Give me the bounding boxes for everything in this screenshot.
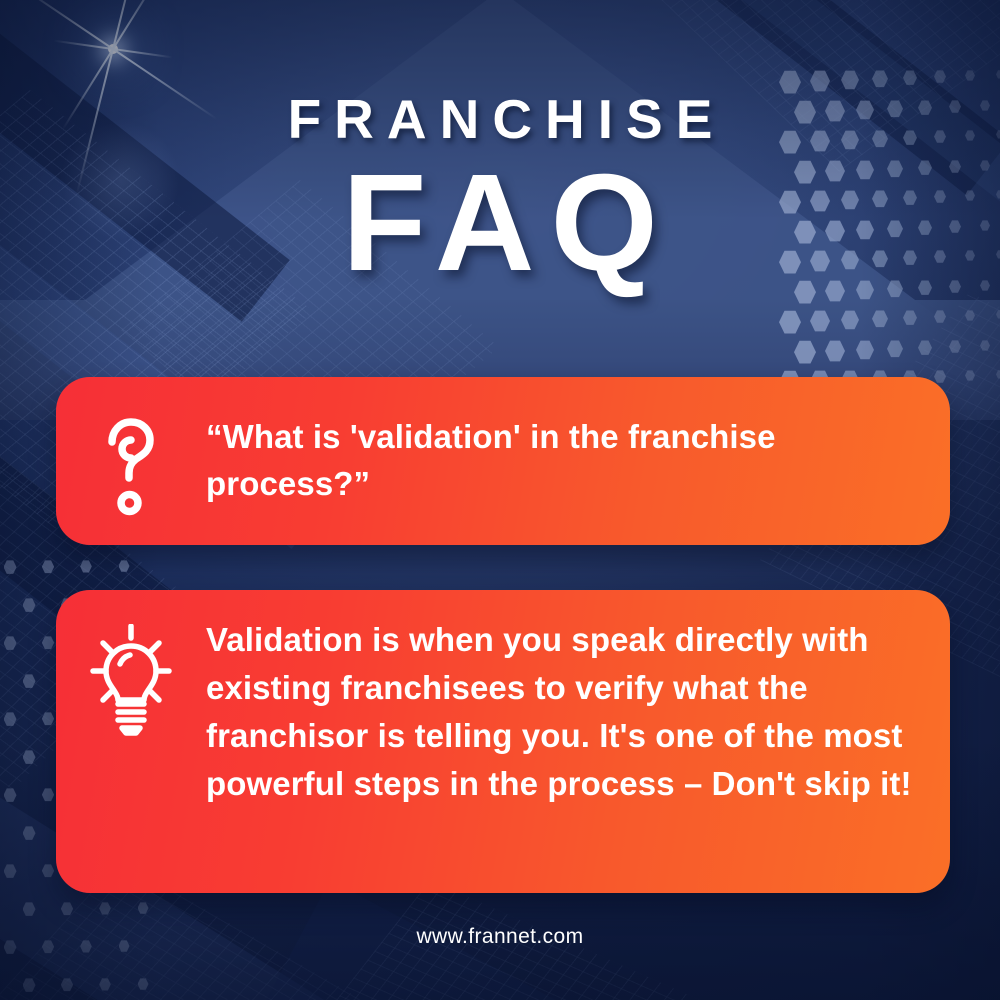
question-text: “What is 'validation' in the franchise p… bbox=[206, 414, 950, 508]
lightbulb-icon bbox=[56, 590, 206, 736]
lens-flare-star-icon bbox=[108, 44, 118, 54]
faq-social-graphic: FRANCHISE FAQ “What is 'validation' in t… bbox=[0, 0, 1000, 1000]
answer-card[interactable]: Validation is when you speak directly wi… bbox=[56, 590, 950, 893]
footer-website[interactable]: www.frannet.com bbox=[0, 925, 1000, 949]
title-line-faq: FAQ bbox=[0, 153, 1000, 294]
page-title: FRANCHISE FAQ bbox=[0, 92, 1000, 294]
answer-text: Validation is when you speak directly wi… bbox=[206, 590, 950, 807]
question-mark-icon bbox=[56, 405, 206, 517]
question-card[interactable]: “What is 'validation' in the franchise p… bbox=[56, 377, 950, 545]
title-line-franchise: FRANCHISE bbox=[0, 92, 1000, 147]
